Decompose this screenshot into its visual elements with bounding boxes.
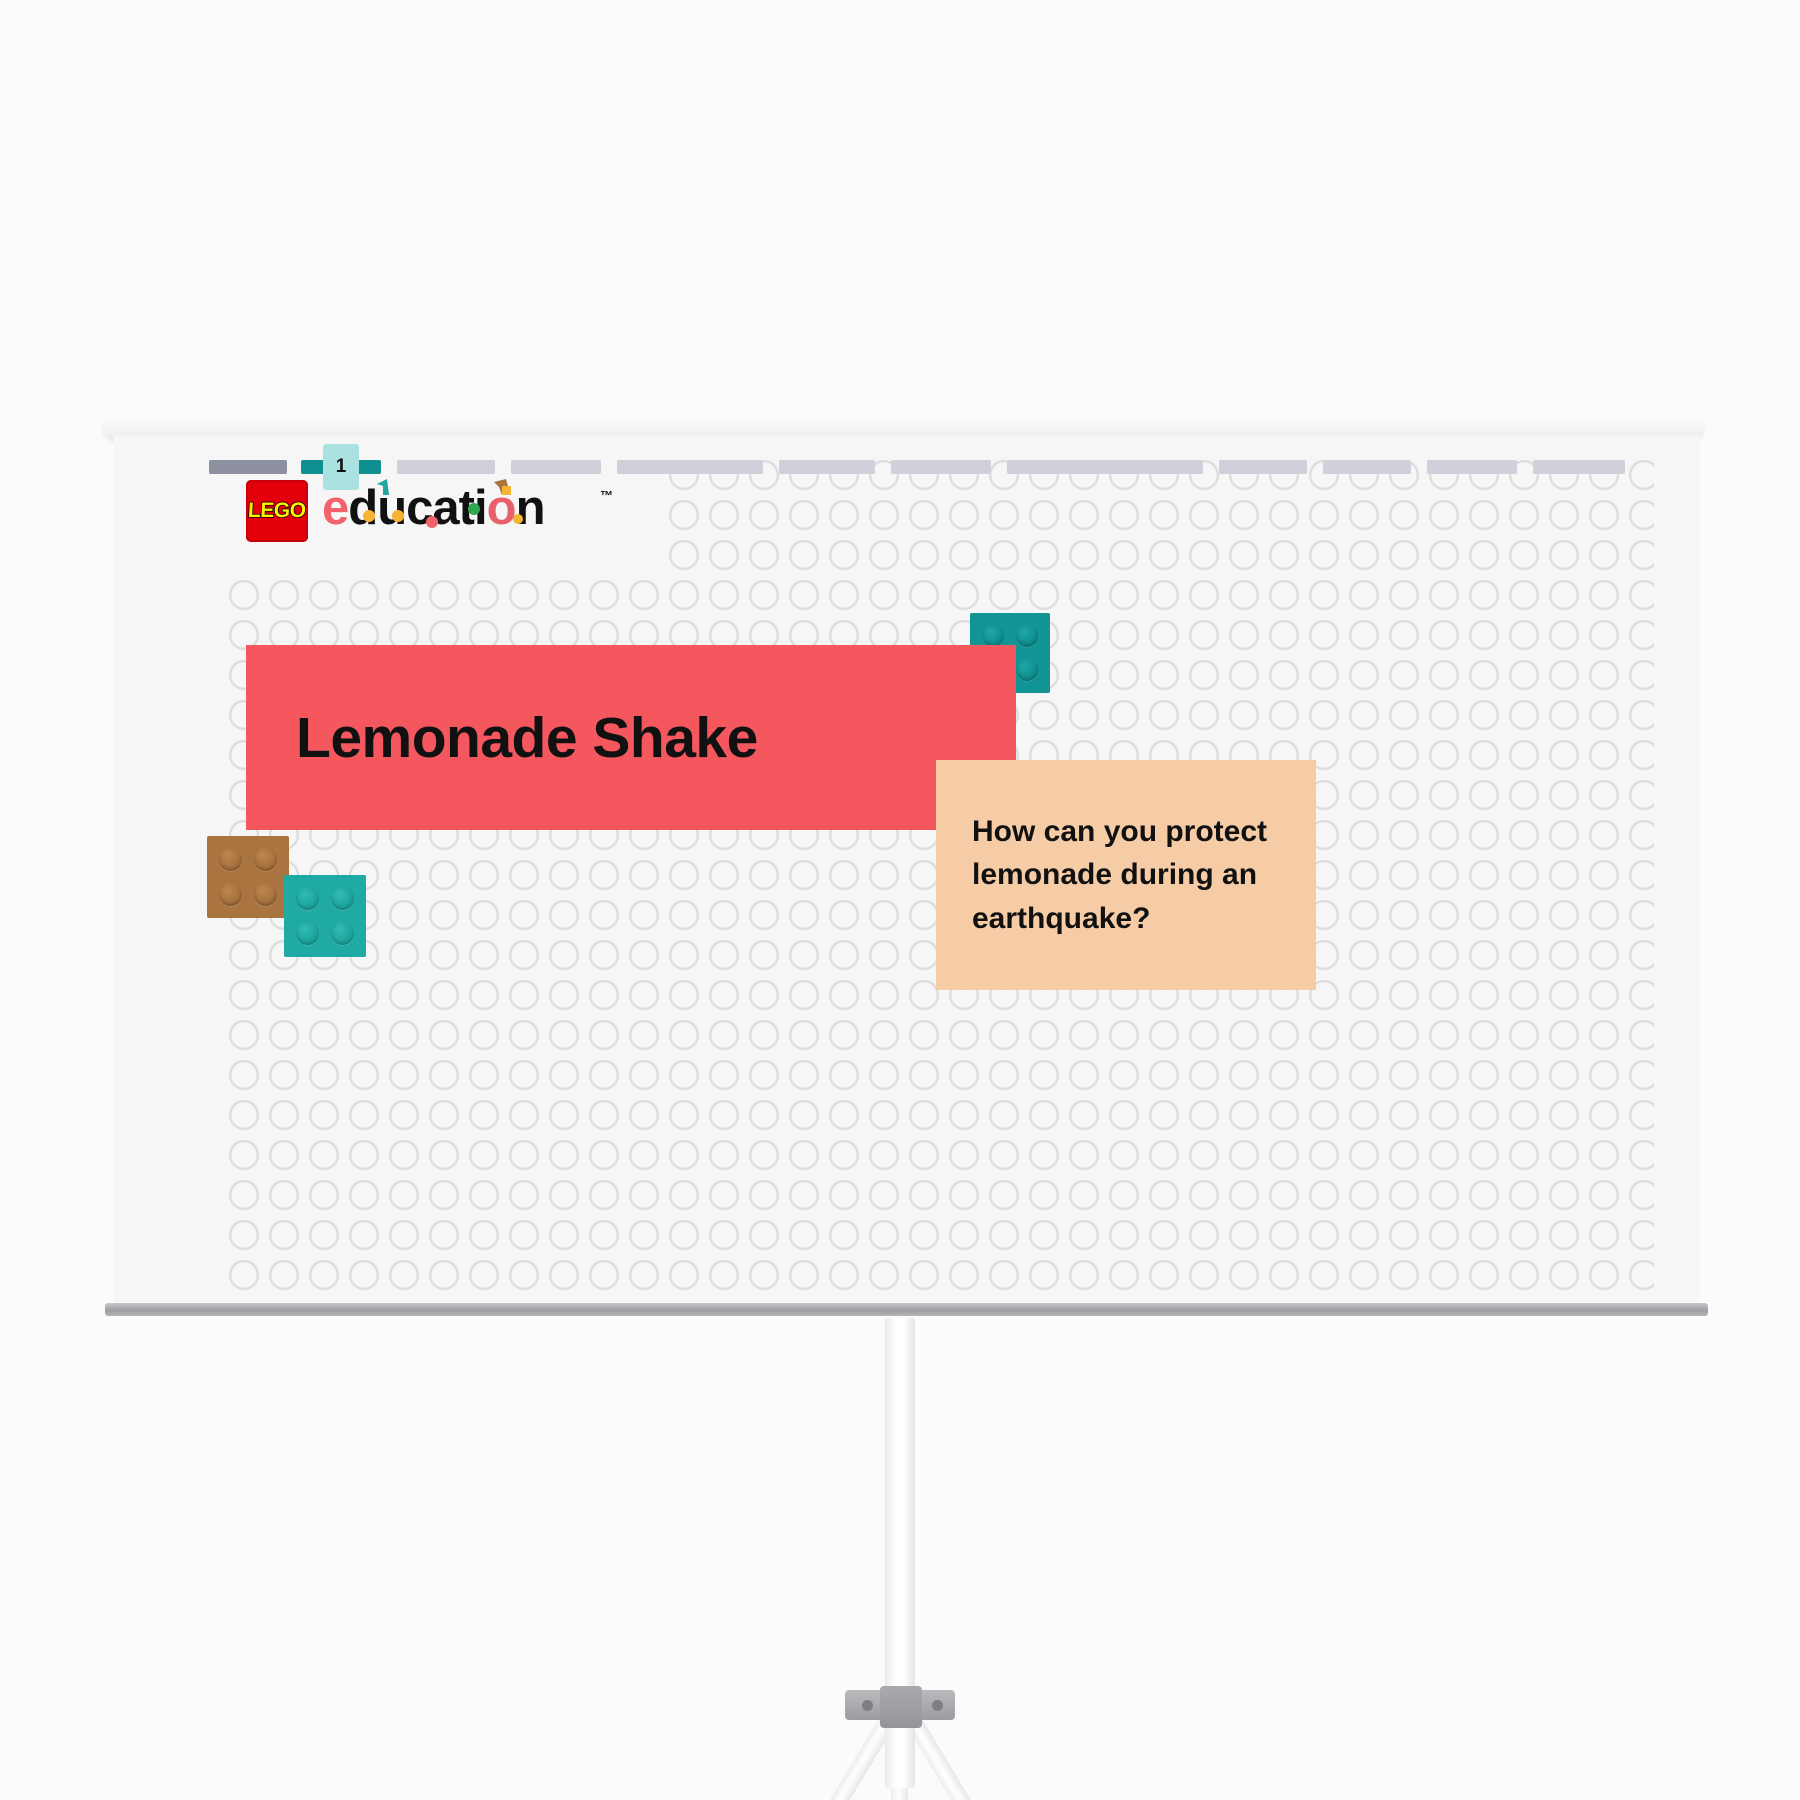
progress-segment-current[interactable]: 1 [301, 460, 381, 474]
progress-segment-gap [763, 460, 779, 474]
svg-text:™: ™ [600, 488, 612, 503]
brick-stud [1016, 659, 1038, 681]
tripod-hub-collar [880, 1686, 922, 1728]
progress-segment-gap [495, 460, 511, 474]
screenshot-root: 1 LEGO education ™ [0, 0, 1800, 1800]
brick-stud [254, 883, 277, 906]
slide-progress-bar[interactable]: 1 [209, 460, 1625, 474]
lego-wordmark-text: LEGO [248, 499, 307, 523]
progress-segment-gap [1307, 460, 1323, 474]
brick-stud [219, 883, 242, 906]
tripod-bolt-right [932, 1700, 943, 1711]
lego-brick-brown [207, 836, 289, 918]
progress-segment-upcoming[interactable] [617, 460, 763, 474]
education-wordmark: education ™ [322, 478, 622, 544]
progress-segment-gap [1517, 460, 1533, 474]
progress-segment-gap [601, 460, 617, 474]
driving-question-text: How can you protect lemonade during an e… [972, 810, 1280, 941]
progress-segment-upcoming[interactable] [1007, 460, 1203, 474]
education-wordmark-svg: education ™ [322, 478, 622, 536]
progress-segment-gap [991, 460, 1007, 474]
lego-brick-teal-lower-left [284, 875, 366, 957]
progress-segment-completed[interactable] [209, 460, 287, 474]
lego-education-logo: LEGO education ™ [246, 478, 622, 544]
progress-segment-gap [287, 460, 301, 474]
slide-title: Lemonade Shake [296, 705, 758, 771]
brick-stud [219, 848, 242, 871]
brick-stud [331, 887, 354, 910]
brick-studs [284, 875, 366, 957]
driving-question-card: How can you protect lemonade during an e… [936, 760, 1316, 990]
progress-segment-upcoming[interactable] [511, 460, 601, 474]
tripod-bolt-left [862, 1700, 873, 1711]
presentation-slide: 1 LEGO education ™ [114, 435, 1700, 1305]
progress-segment-upcoming[interactable] [1323, 460, 1411, 474]
brick-stud [1016, 625, 1038, 647]
progress-segment-gap [381, 460, 397, 474]
screen-bottom-weight-bar [105, 1303, 1708, 1316]
brick-stud [296, 922, 319, 945]
brick-studs [207, 836, 289, 918]
lego-brand-mark: LEGO [246, 480, 308, 542]
progress-segment-upcoming[interactable] [1219, 460, 1307, 474]
progress-segment-gap [875, 460, 891, 474]
progress-segment-upcoming[interactable] [779, 460, 875, 474]
progress-segment-gap [1411, 460, 1427, 474]
slide-title-banner: Lemonade Shake [246, 645, 1016, 830]
progress-segment-upcoming[interactable] [1533, 460, 1625, 474]
brick-stud [982, 625, 1004, 647]
progress-segment-upcoming[interactable] [1427, 460, 1517, 474]
brick-stud [254, 848, 277, 871]
progress-segment-upcoming[interactable] [891, 460, 991, 474]
progress-segment-gap [1203, 460, 1219, 474]
progress-segment-upcoming[interactable] [397, 460, 495, 474]
brick-stud [331, 922, 354, 945]
brick-stud [296, 887, 319, 910]
